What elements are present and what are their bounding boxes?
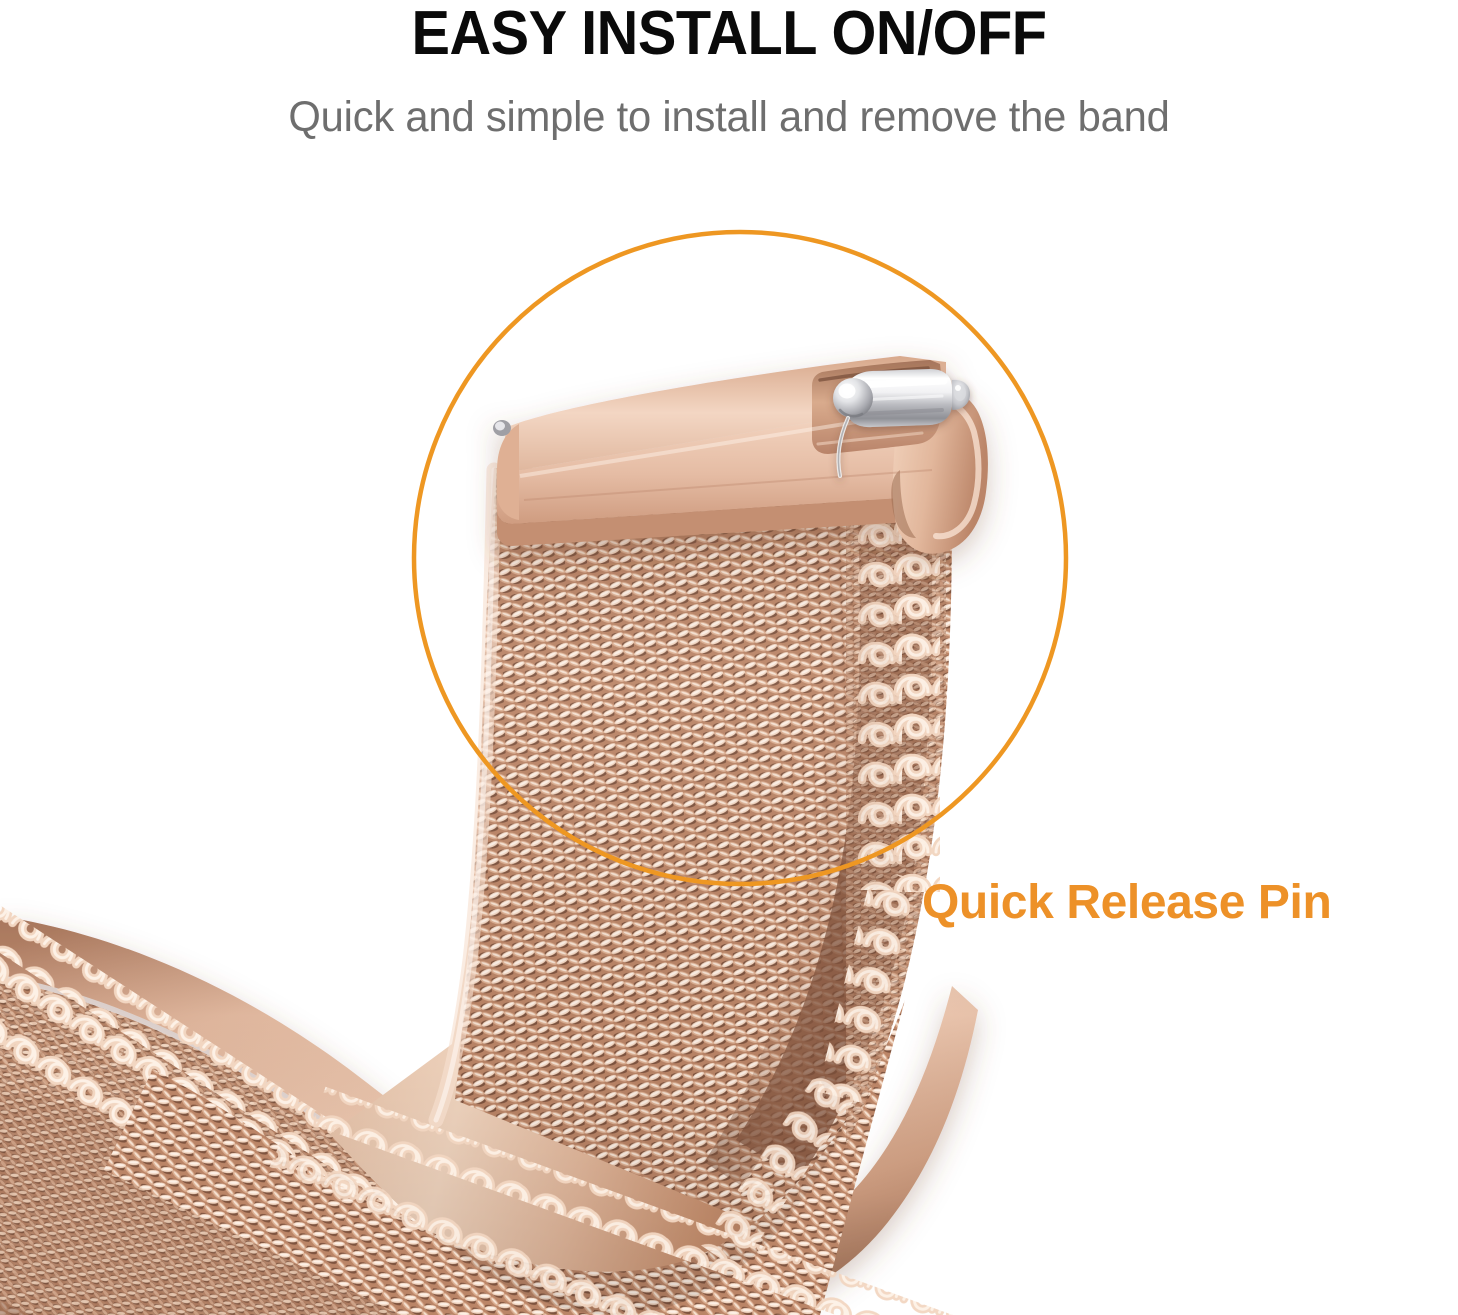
page-title: EASY INSTALL ON/OFF [51,2,1407,66]
product-feature-image: EASY INSTALL ON/OFF Quick and simple to … [0,0,1458,1315]
product-photo-illustration [0,0,1458,1315]
quick-release-pin-callout-label: Quick Release Pin [922,875,1331,931]
page-subtitle: Quick and simple to install and remove t… [22,92,1436,142]
